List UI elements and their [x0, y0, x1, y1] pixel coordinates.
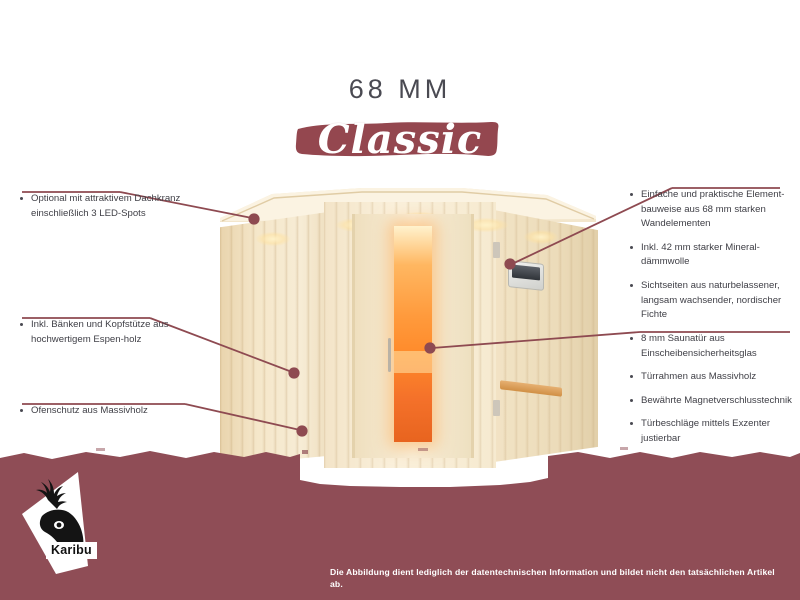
control-panel	[508, 260, 544, 291]
door-hinge-icon	[493, 242, 500, 258]
glass-door	[394, 226, 432, 442]
callout-item: Bewährte Magnetverschlusstechnik	[628, 394, 800, 409]
callout-item: Inkl. 42 mm starker Mineral-dämmwolle	[628, 241, 800, 270]
deer-head-icon	[16, 470, 128, 578]
brand-logo: Karibu	[16, 470, 128, 578]
callout-item: Sichtseiten aus naturbelassener, langsam…	[628, 279, 800, 323]
callout-list: Inkl. Bänken und Kopfstütze aus hochwert…	[18, 318, 198, 347]
callout-item: Ofenschutz aus Massivholz	[18, 404, 198, 419]
brand-logo-text: Karibu	[46, 542, 97, 559]
callout-right-1: Einfache und praktische Element-bauweise…	[628, 188, 800, 332]
led-spot-icon	[524, 230, 558, 244]
model-badge: Classic	[285, 112, 515, 174]
led-spot-icon	[256, 232, 290, 246]
footer-disclaimer: Die Abbildung dient lediglich der datent…	[330, 566, 790, 590]
product-image-sauna	[212, 188, 602, 473]
infographic-page: 68 MM Classic	[0, 0, 800, 600]
model-name: Classic	[285, 112, 515, 174]
door-handle-icon	[388, 338, 391, 372]
callout-item: Optional mit attraktivem Dachkranz einsc…	[18, 192, 198, 221]
callout-left-2: Inkl. Bänken und Kopfstütze aus hochwert…	[18, 318, 198, 356]
callout-list: 8 mm Saunatür aus Einscheibensicherheits…	[628, 332, 800, 447]
callout-item: Türbeschläge mittels Exzenter justierbar	[628, 417, 800, 446]
wall-left	[220, 212, 328, 466]
wall-right	[494, 210, 598, 462]
callout-item: Inkl. Bänken und Kopfstütze aus hochwert…	[18, 318, 198, 347]
callout-item: 8 mm Saunatür aus Einscheibensicherheits…	[628, 332, 800, 361]
callout-left-3: Ofenschutz aus Massivholz	[18, 404, 198, 428]
callout-item: Einfache und praktische Element-bauweise…	[628, 188, 800, 232]
callout-list: Optional mit attraktivem Dachkranz einsc…	[18, 192, 198, 221]
callout-list: Ofenschutz aus Massivholz	[18, 404, 198, 419]
callout-item: Türrahmen aus Massivholz	[628, 370, 800, 385]
door-hinge-icon	[493, 400, 500, 416]
page-title-thickness: 68 MM	[0, 74, 800, 105]
callout-left-1: Optional mit attraktivem Dachkranz einsc…	[18, 192, 198, 230]
callout-right-2: 8 mm Saunatür aus Einscheibensicherheits…	[628, 332, 800, 456]
callout-list: Einfache und praktische Element-bauweise…	[628, 188, 800, 323]
